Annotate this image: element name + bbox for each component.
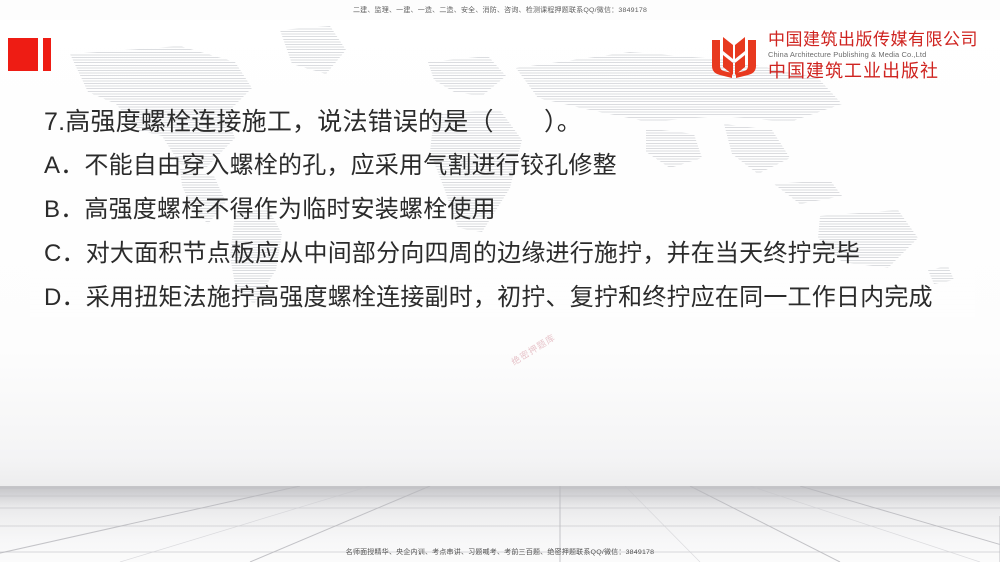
question-option-b[interactable]: B．高强度螺栓不得作为临时安装螺栓使用: [44, 188, 969, 232]
question-option-d[interactable]: D．采用扭矩法施拧高强度螺栓连接副时，初拧、复拧和终拧应在同一工作日内完成: [44, 276, 969, 320]
slide-background: 中国建筑出版传媒有限公司 China Architecture Publishi…: [0, 0, 1000, 486]
logo-company-cn: 中国建筑出版传媒有限公司: [768, 31, 978, 48]
logo-company-en: China Architecture Publishing & Media Co…: [768, 51, 978, 59]
publisher-logo-text: 中国建筑出版传媒有限公司 China Architecture Publishi…: [768, 31, 978, 81]
top-promo-banner: 二建、监理、一建、一造、二造、安全、消防、咨询、检测课程押题联系QQ/微信：38…: [0, 0, 1000, 20]
watermark-text: 绝密押题库: [509, 330, 558, 368]
question-block: 7.高强度螺栓连接施工，说法错误的是（ ）。 A．不能自由穿入螺栓的孔，应采用气…: [44, 100, 969, 320]
question-stem: 7.高强度螺栓连接施工，说法错误的是（ ）。: [44, 100, 969, 144]
question-option-a[interactable]: A．不能自由穿入螺栓的孔，应采用气割进行铰孔修整: [44, 144, 969, 188]
presentation-slide: 中国建筑出版传媒有限公司 China Architecture Publishi…: [0, 0, 1000, 562]
top-promo-text: 二建、监理、一建、一造、二造、安全、消防、咨询、检测课程押题联系QQ/微信：38…: [353, 5, 647, 15]
red-bar-decoration: [43, 38, 51, 71]
logo-imprint-cn: 中国建筑工业出版社: [768, 63, 978, 81]
bottom-promo-banner: 名师面授精华、央企内训、考点串讲、习题喊考、考前三百题、绝密押题联系QQ/微信：…: [0, 542, 1000, 562]
publisher-logo: 中国建筑出版传媒有限公司 China Architecture Publishi…: [709, 31, 978, 81]
red-square-decoration: [8, 38, 38, 71]
bottom-promo-text: 名师面授精华、央企内训、考点串讲、习题喊考、考前三百题、绝密押题联系QQ/微信：…: [346, 547, 655, 557]
open-book-logo-icon: [709, 33, 759, 79]
question-option-c[interactable]: C．对大面积节点板应从中间部分向四周的边缘进行施拧，并在当天终拧完毕: [44, 232, 969, 276]
